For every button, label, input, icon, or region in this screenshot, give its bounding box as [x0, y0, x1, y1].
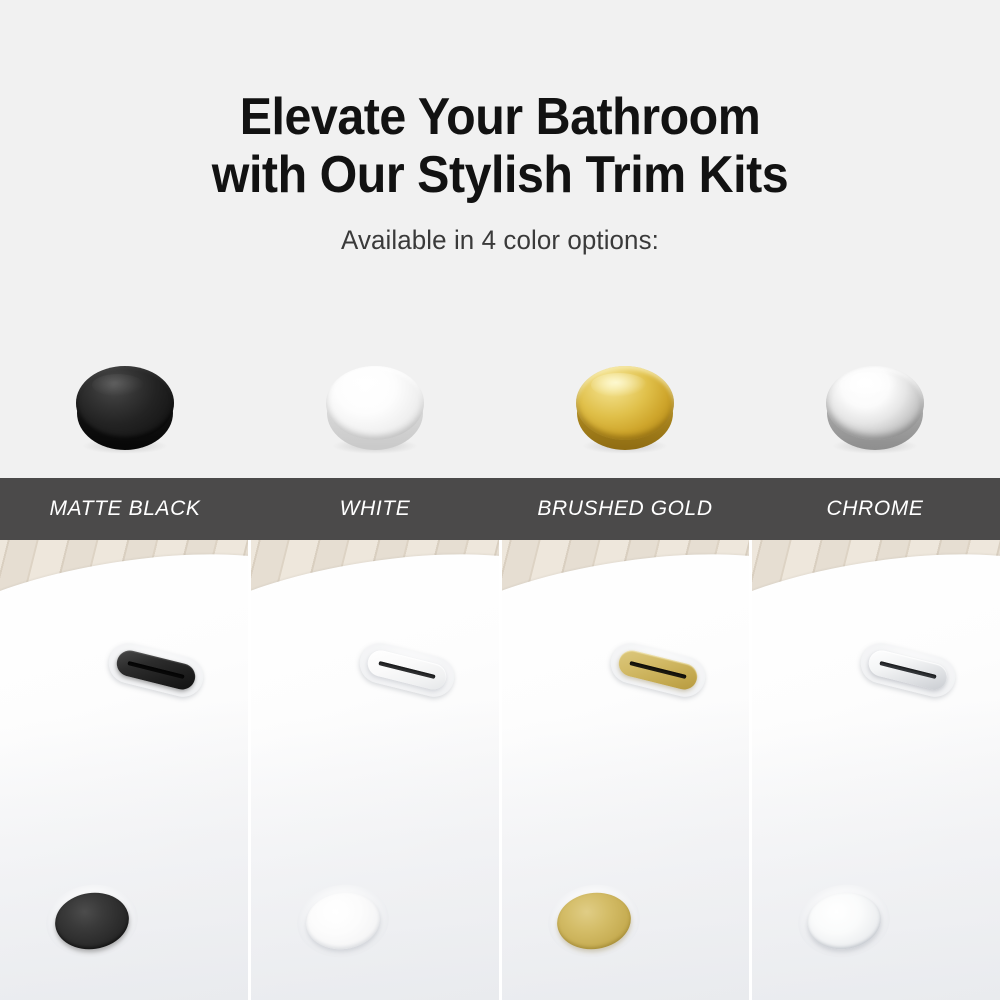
finish-label-brushed-gold: BRUSHED GOLD	[500, 478, 750, 540]
overflow-slot	[629, 661, 686, 679]
subtitle: Available in 4 color options:	[20, 225, 980, 256]
finish-label-bar: MATTE BLACK WHITE BRUSHED GOLD CHROME	[0, 478, 1000, 540]
tub-shading	[752, 684, 1000, 1000]
finish-label-matte-black: MATTE BLACK	[0, 478, 250, 540]
swatch-cell-matte-black[interactable]	[0, 340, 250, 470]
swatch-top-surface	[76, 366, 174, 440]
overflow-slot	[127, 661, 184, 679]
tub-shading	[502, 684, 750, 1000]
product-photo-row	[0, 540, 1000, 1000]
photo-matte-black[interactable]	[0, 540, 248, 1000]
swatch-top-surface	[326, 366, 424, 440]
headline-line-1: Elevate Your Bathroom	[35, 88, 965, 146]
photo-chrome[interactable]	[752, 540, 1000, 1000]
swatch-top-surface	[826, 366, 924, 440]
overflow-slot	[880, 661, 937, 679]
hero-section: Elevate Your Bathroom with Our Stylish T…	[0, 0, 1000, 478]
photo-white[interactable]	[251, 540, 499, 1000]
swatch-top-surface	[576, 366, 674, 440]
tub-shading	[0, 684, 248, 1000]
swatch-brushed-gold[interactable]	[576, 366, 674, 444]
tub-shading	[251, 684, 499, 1000]
swatch-cell-white[interactable]	[250, 340, 500, 470]
headline-line-2: with Our Stylish Trim Kits	[35, 146, 965, 204]
swatch-cell-brushed-gold[interactable]	[500, 340, 750, 470]
color-swatch-row	[0, 340, 1000, 470]
swatch-white[interactable]	[326, 366, 424, 444]
overflow-slot	[378, 661, 435, 679]
swatch-cell-chrome[interactable]	[750, 340, 1000, 470]
photo-brushed-gold[interactable]	[502, 540, 750, 1000]
finish-label-white: WHITE	[250, 478, 500, 540]
finish-label-chrome: CHROME	[750, 478, 1000, 540]
page-title: Elevate Your Bathroom with Our Stylish T…	[35, 88, 965, 204]
swatch-chrome[interactable]	[826, 366, 924, 444]
swatch-matte-black[interactable]	[76, 366, 174, 444]
